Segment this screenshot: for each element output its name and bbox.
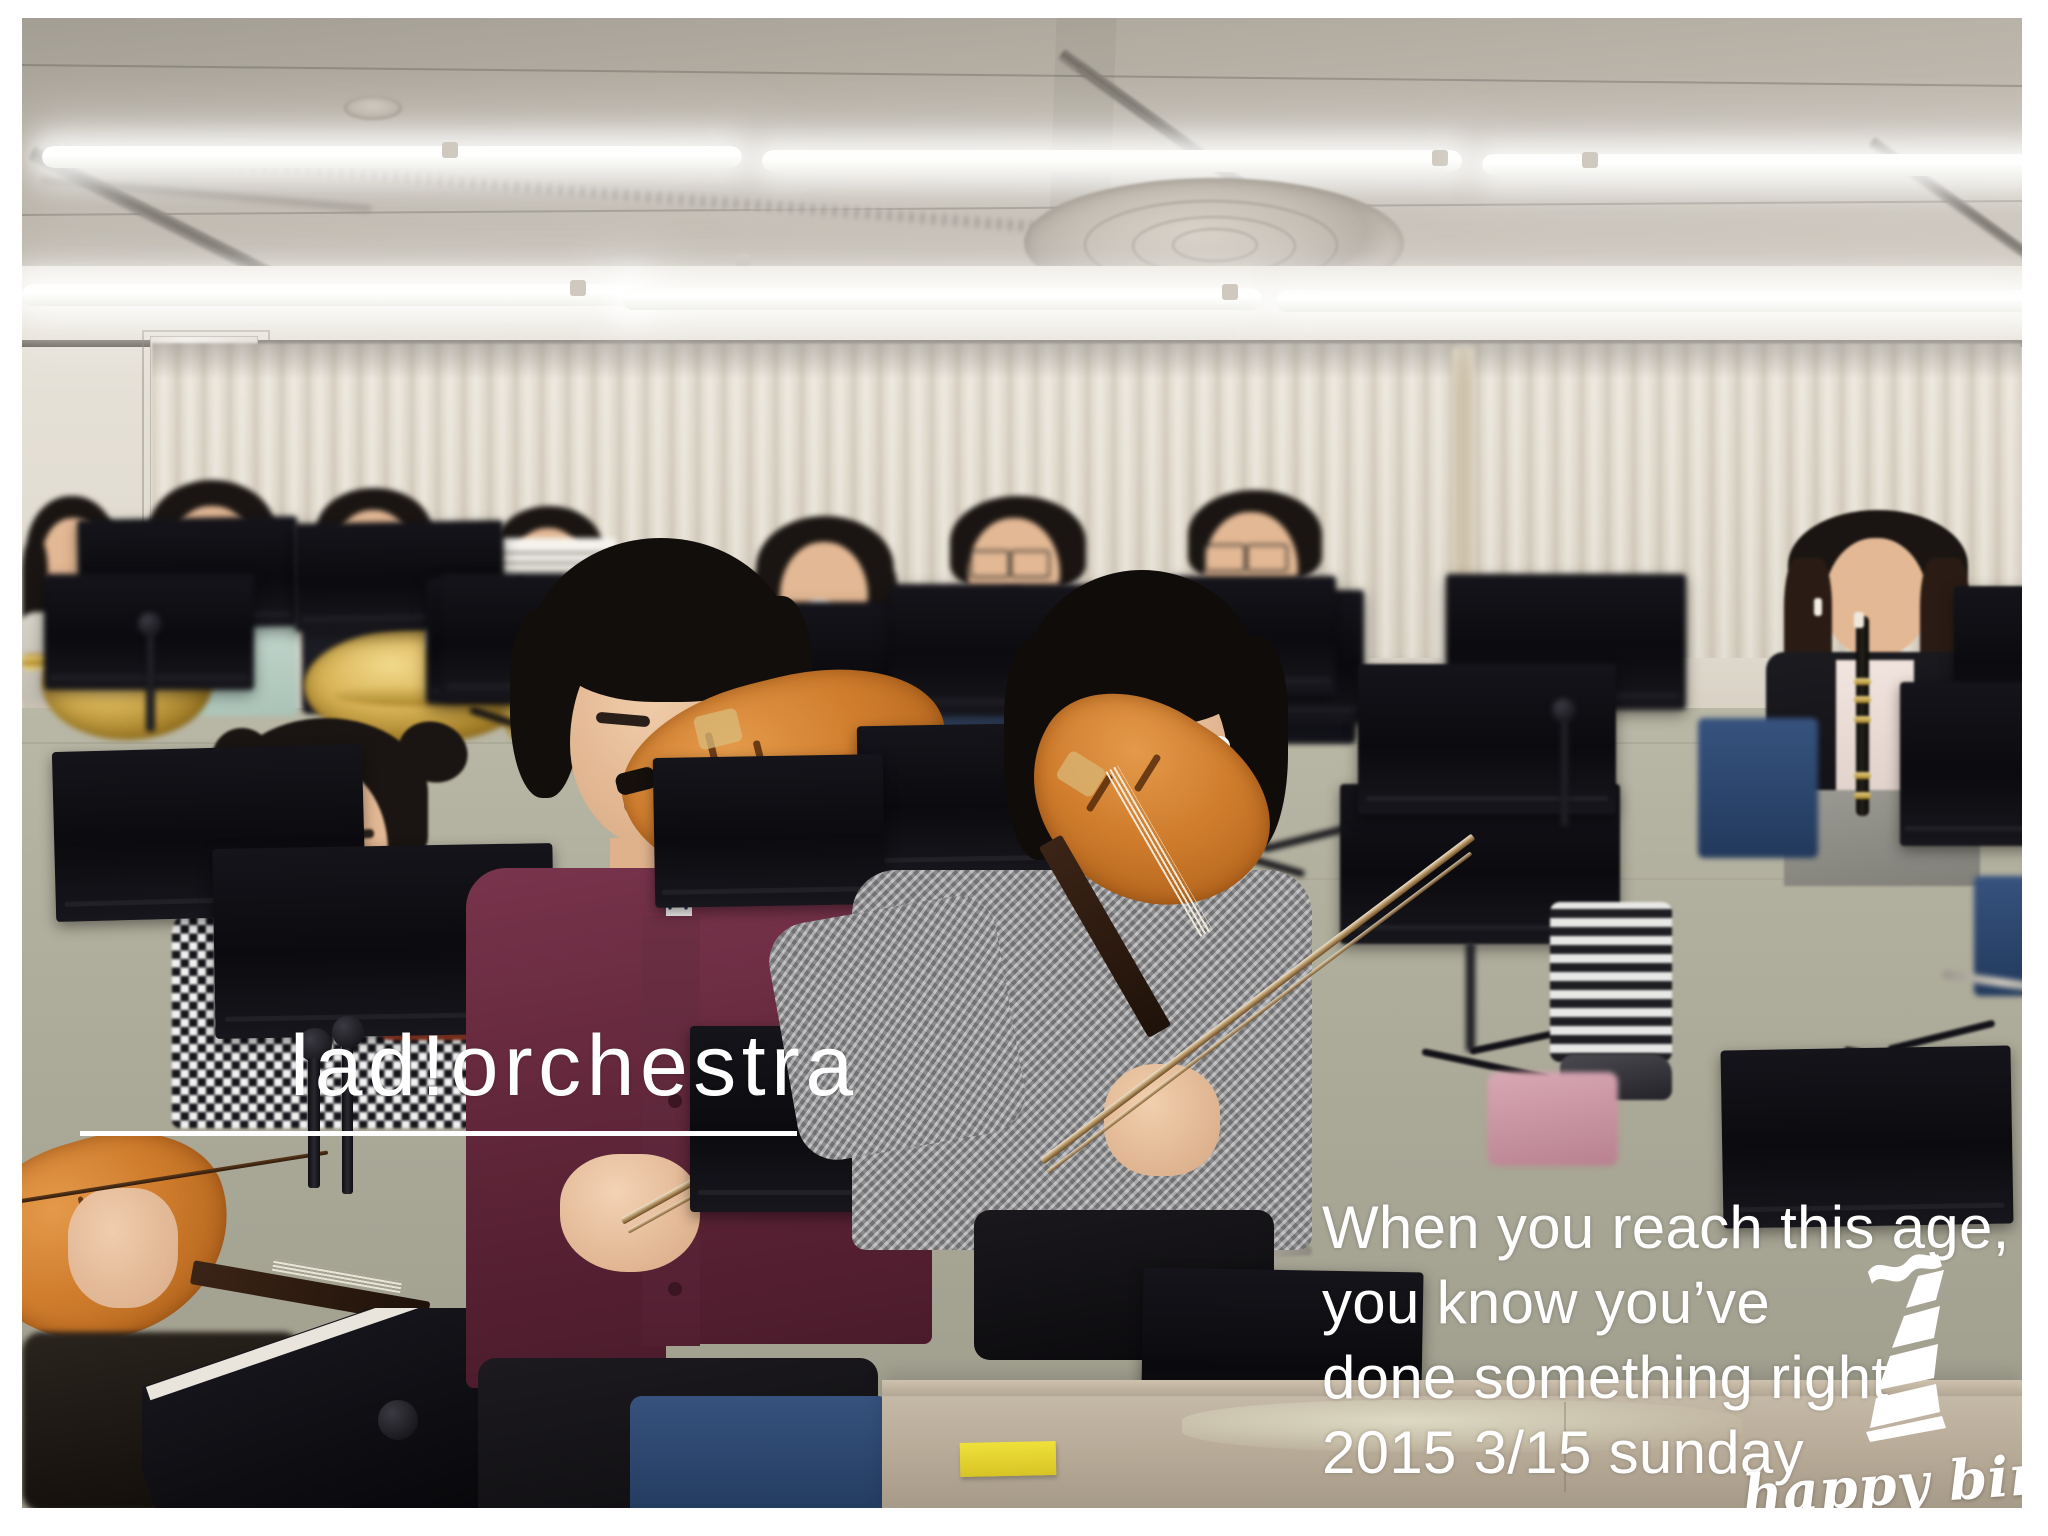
page-title: lad!orchestra: [290, 1023, 1050, 1109]
violin-right: [1022, 708, 1342, 938]
person-masked-violinist: [982, 570, 1312, 1330]
party-hat-icon: [1860, 1246, 2010, 1446]
photo-frame: lad!orchestra When you reach this age, y…: [0, 0, 2048, 1536]
person-striped-legs: [1550, 902, 1672, 1062]
sticky-note: [960, 1441, 1057, 1477]
music-stand: [653, 754, 886, 908]
title-underline: [80, 1131, 797, 1136]
ceiling: [22, 18, 2022, 278]
photograph: lad!orchestra When you reach this age, y…: [22, 18, 2022, 1508]
hand-left-violinist: [68, 1188, 178, 1308]
chair-main: [630, 1396, 890, 1508]
hand-right-fingering: [1104, 1064, 1220, 1176]
bag-pink: [1488, 1072, 1618, 1166]
music-stand: [1358, 664, 1616, 814]
music-stand: [1900, 682, 2022, 846]
title-overlay: lad!orchestra: [290, 1023, 1050, 1136]
ceiling-dome: [344, 96, 402, 120]
chair: [1698, 718, 1818, 858]
